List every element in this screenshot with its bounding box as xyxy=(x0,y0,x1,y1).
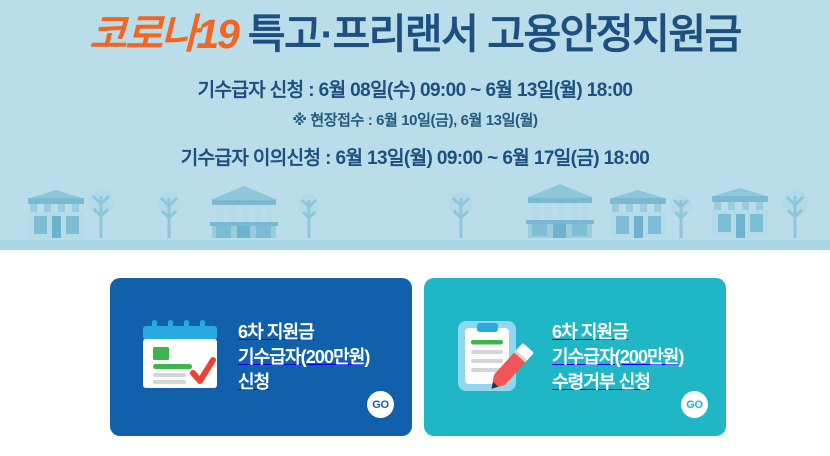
promo-banner-page: 코로나19 특고·프리랜서 고용안정지원금 기수급자 신청 : 6월 08일(수… xyxy=(0,0,830,456)
card-refuse-line3: 수령거부 신청 xyxy=(552,372,650,392)
card-apply-line1: 6차 지원금 xyxy=(238,322,314,342)
calendar-check-icon xyxy=(132,309,228,405)
card-apply-line3: 신청 xyxy=(238,372,269,392)
action-card-area: 6차 지원금 기수급자(200만원) 신청 GO xyxy=(0,250,830,456)
title-rest: 특고·프리랜서 고용안정지원금 xyxy=(238,11,741,57)
hero-ground-strip xyxy=(0,240,830,250)
page-title: 코로나19 특고·프리랜서 고용안정지원금 xyxy=(0,8,830,60)
line-spacer xyxy=(0,136,830,144)
card-apply-subsidy[interactable]: 6차 지원금 기수급자(200만원) 신청 GO xyxy=(110,278,412,436)
card-apply-line2: 기수급자(200만원) xyxy=(238,347,369,367)
card-apply-text: 6차 지원금 기수급자(200만원) 신청 xyxy=(228,320,412,395)
card-refuse-subsidy[interactable]: 6차 지원금 기수급자(200만원) 수령거부 신청 GO xyxy=(424,278,726,436)
clipboard-pencil-icon xyxy=(446,309,542,405)
schedule-line-application: 기수급자 신청 : 6월 08일(수) 09:00 ~ 6월 13일(월) 18… xyxy=(0,76,830,106)
card-refuse-line2: 기수급자(200만원) xyxy=(552,347,683,367)
go-badge-apply[interactable]: GO xyxy=(367,391,394,418)
schedule-line-objection: 기수급자 이의신청 : 6월 13일(월) 09:00 ~ 6월 17일(금) … xyxy=(0,144,830,174)
skyline-illustration xyxy=(0,176,830,246)
schedule-lines: 기수급자 신청 : 6월 08일(수) 09:00 ~ 6월 13일(월) 18… xyxy=(0,76,830,174)
card-refuse-line1: 6차 지원금 xyxy=(552,322,628,342)
schedule-line-onsite-note: ※ 현장접수 : 6월 10일(금), 6월 13일(월) xyxy=(0,106,830,136)
title-highlight: 코로나19 xyxy=(89,11,238,57)
hero-banner: 코로나19 특고·프리랜서 고용안정지원금 기수급자 신청 : 6월 08일(수… xyxy=(0,0,830,250)
go-badge-refuse[interactable]: GO xyxy=(681,391,708,418)
card-refuse-text: 6차 지원금 기수급자(200만원) 수령거부 신청 xyxy=(542,320,726,395)
